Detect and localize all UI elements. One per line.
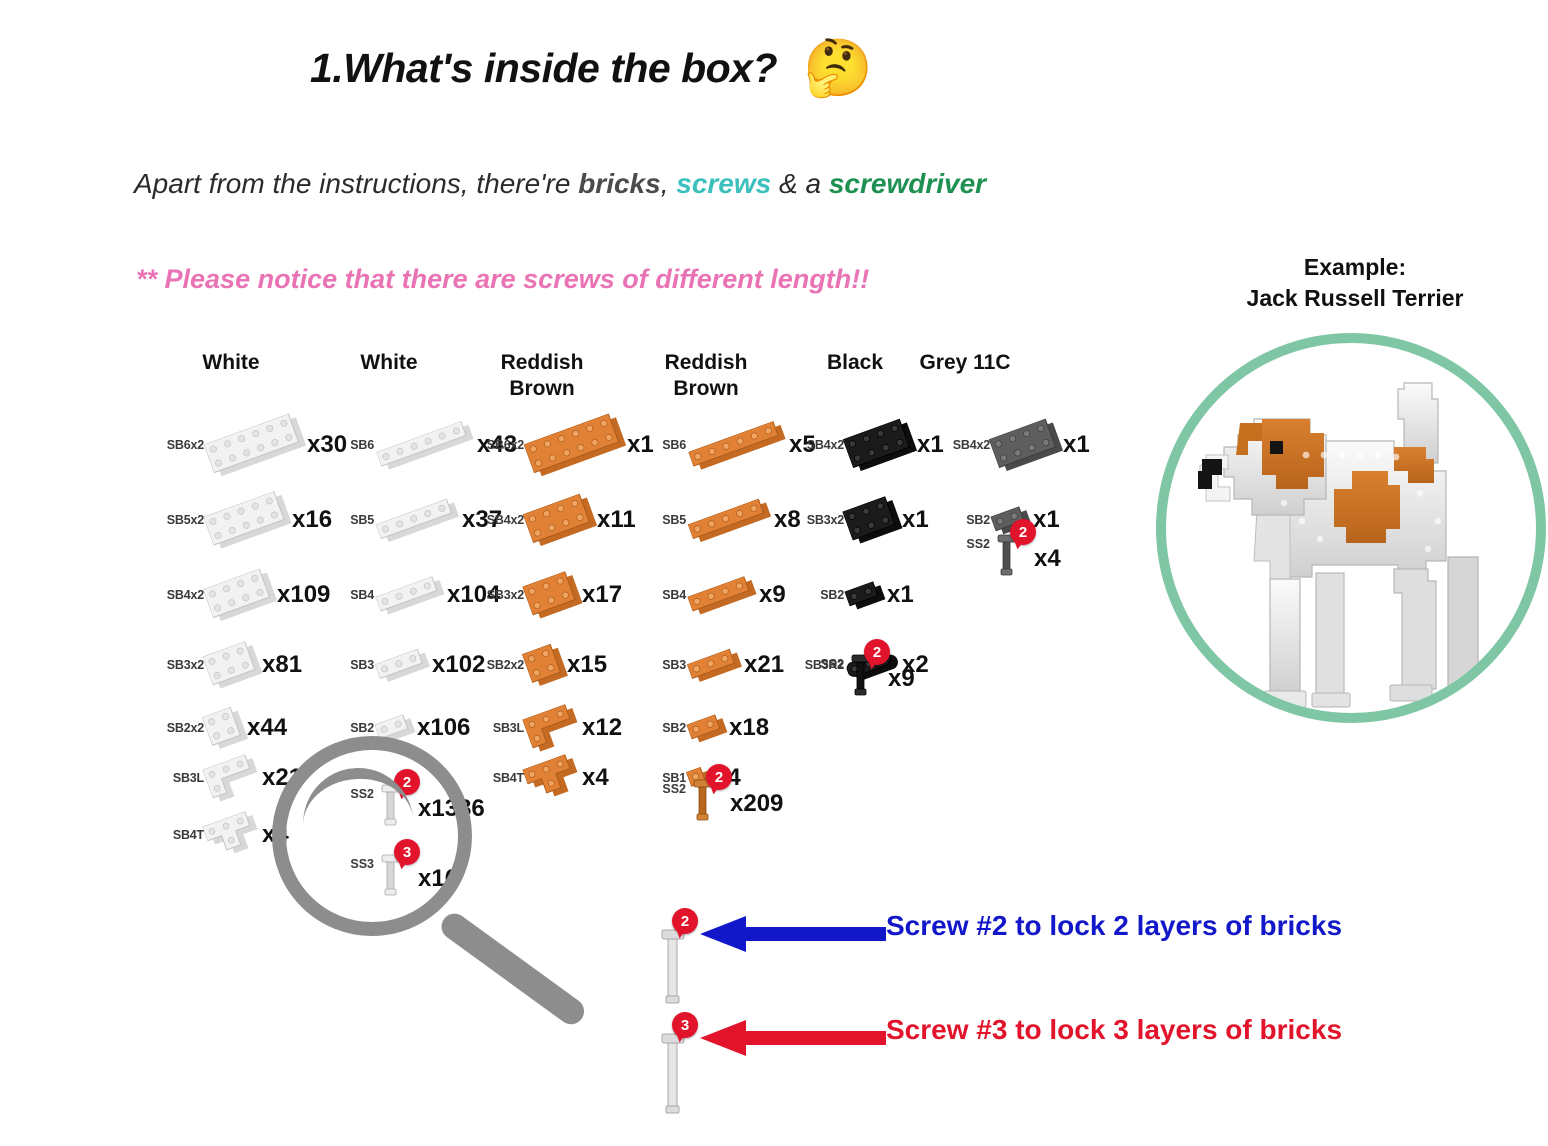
part-code: SB6 — [640, 438, 689, 452]
example-caption-line1: Example: — [1180, 252, 1530, 283]
legend-arrow-blue — [700, 914, 886, 954]
brick-icon — [843, 417, 917, 473]
screw-icon: 2 — [847, 645, 887, 701]
part-row: SB4x2 x1 — [798, 415, 944, 475]
keyword-screwdriver: screwdriver — [829, 168, 986, 199]
brick-icon — [842, 494, 902, 545]
column-header-0-line1: White — [156, 350, 306, 376]
screw-code: SS2 — [798, 657, 847, 671]
part-code: SB2x2 — [158, 721, 207, 735]
magnifier-handle — [436, 908, 589, 1029]
part-row: SB4x2 x1 — [944, 415, 1090, 475]
part-row: SB3x2 x17 — [478, 565, 622, 625]
part-quantity: x21 — [262, 764, 302, 792]
part-row: SB3x2 x1 — [798, 490, 929, 550]
keyword-bricks: bricks — [578, 168, 661, 199]
screw-row: SS2 2x209 — [640, 770, 783, 826]
legend-badge-3: 3 — [672, 1012, 698, 1038]
part-quantity: x17 — [582, 581, 622, 609]
brick-icon — [374, 712, 415, 744]
page-header: 1.What's inside the box? 🤔 — [310, 40, 873, 96]
brick-icon — [375, 574, 444, 616]
column-header-3-line2: Brown — [631, 376, 781, 402]
screw-length-notice: ** Please notice that there are screws o… — [136, 264, 869, 295]
part-quantity: x18 — [729, 714, 769, 742]
subtitle-comma: , — [661, 168, 677, 199]
screw-quantity: x16 — [418, 865, 458, 893]
screw-row: SS2 2x1386 — [328, 775, 485, 831]
screw-code: SS2 — [944, 537, 993, 551]
column-header-5: Grey 11C — [890, 350, 1040, 376]
brick-icon — [375, 646, 430, 683]
column-header-2: Reddish Brown — [467, 350, 617, 403]
screw-row: SS3 3x16 — [328, 845, 458, 901]
part-code: SB3x2 — [158, 658, 207, 672]
part-quantity: x11 — [597, 506, 636, 534]
brick-icon — [524, 412, 627, 479]
brick-icon — [688, 419, 785, 472]
screw-row: SS2 2x4 — [944, 525, 1061, 581]
part-code: SB3L — [158, 771, 207, 785]
part-row: SB2 x1 — [798, 565, 914, 625]
part-quantity: x21 — [744, 651, 784, 679]
part-code: SB3 — [328, 658, 377, 672]
brick-icon — [523, 492, 597, 548]
legend-arrow-red — [700, 1018, 886, 1058]
brick-icon — [376, 496, 459, 543]
screw-row: SS2 2x9 — [798, 645, 915, 701]
screw-quantity: x9 — [888, 665, 915, 693]
subtitle-prefix: Apart from the instructions, there're — [134, 168, 578, 199]
part-code: SB2 — [798, 588, 847, 602]
keyword-screws: screws — [676, 168, 771, 199]
screw-icon: 2 — [377, 775, 417, 831]
screw-code: SS2 — [640, 782, 689, 796]
screw-icon: 3 — [377, 845, 417, 901]
part-code: SB2 — [328, 721, 377, 735]
brick-icon — [522, 569, 582, 620]
part-row: SB6 x5 — [640, 415, 816, 475]
part-quantity: x4 — [262, 821, 289, 849]
screw-layer-badge: 3 — [394, 839, 420, 865]
part-quantity: x44 — [247, 714, 287, 742]
part-code: SB6x2 — [158, 438, 207, 452]
brick-icon — [522, 702, 582, 753]
part-row: SB3x2 x81 — [158, 635, 302, 695]
brick-icon — [522, 752, 582, 803]
brick-icon — [202, 809, 262, 860]
column-header-5-line1: Grey 11C — [890, 350, 1040, 376]
screw-code: SS3 — [328, 857, 377, 871]
part-row: SB2 x106 — [328, 698, 470, 758]
example-caption-line2: Jack Russell Terrier — [1180, 283, 1530, 314]
part-quantity: x8 — [774, 506, 801, 534]
screw-layer-badge: 2 — [1010, 519, 1036, 545]
example-caption: Example: Jack Russell Terrier — [1180, 252, 1530, 314]
part-code: SB4 — [640, 588, 689, 602]
part-row: SB5 x8 — [640, 490, 801, 550]
brick-icon — [376, 419, 473, 472]
subtitle-middle: & a — [771, 168, 829, 199]
column-header-0: White — [156, 350, 306, 376]
part-row: SB3L x21 — [158, 748, 302, 808]
part-code: SB2 — [640, 721, 689, 735]
legend-text-screw3: Screw #3 to lock 3 layers of bricks — [886, 1014, 1342, 1046]
column-header-1-line1: White — [314, 350, 464, 376]
brick-icon — [203, 489, 291, 551]
part-code: SB5 — [328, 513, 377, 527]
legend-badge-2: 2 — [672, 908, 698, 934]
part-code: SB2x2 — [478, 658, 527, 672]
part-row: SB4 x104 — [328, 565, 500, 625]
part-quantity: x4 — [582, 764, 609, 792]
brick-icon — [844, 579, 885, 611]
part-quantity: x106 — [417, 714, 470, 742]
part-row: SB4x2 x109 — [158, 565, 330, 625]
part-quantity: x12 — [582, 714, 622, 742]
screw-quantity: x4 — [1034, 545, 1061, 573]
part-row: SB4 x9 — [640, 565, 786, 625]
part-code: SB4x2 — [158, 588, 207, 602]
part-row: SB3 x21 — [640, 635, 784, 695]
screw-layer-badge: 2 — [706, 764, 732, 790]
part-quantity: x15 — [567, 651, 607, 679]
part-row: SB4x2 x11 — [478, 490, 636, 550]
column-header-2-line1: Reddish — [467, 350, 617, 376]
part-code: SB4T — [158, 828, 207, 842]
legend-screw-3-figure: 3 — [650, 1012, 694, 1122]
brick-icon — [202, 639, 262, 690]
thinking-face-emoji: 🤔 — [803, 40, 873, 96]
part-code: SB5x2 — [158, 513, 207, 527]
legend-row-screw2: 2 Screw #2 to lock 2 layers of bricks — [650, 908, 1342, 1018]
jack-russell-terrier-image — [1166, 343, 1536, 713]
part-quantity: x1 — [902, 506, 929, 534]
part-code: SB4 — [328, 588, 377, 602]
brick-icon — [202, 705, 248, 751]
screw-layer-badge: 2 — [394, 769, 420, 795]
screw-icon: 2 — [993, 525, 1033, 581]
brick-icon — [688, 496, 771, 543]
part-row: SB6x2 x1 — [478, 415, 654, 475]
column-header-3-line1: Reddish — [631, 350, 781, 376]
part-code: SB6x2 — [478, 438, 527, 452]
page-title: 1.What's inside the box? — [310, 45, 777, 92]
brick-icon — [203, 567, 277, 623]
part-code: SB6 — [328, 438, 377, 452]
part-row: SB6x2 x30 — [158, 415, 347, 475]
brick-icon — [204, 412, 307, 479]
part-row: SB4T x4 — [478, 748, 609, 808]
part-row: SB5 x37 — [328, 490, 502, 550]
part-quantity: x1 — [887, 581, 914, 609]
legend-text-screw2: Screw #2 to lock 2 layers of bricks — [886, 910, 1342, 942]
column-header-2-line2: Brown — [467, 376, 617, 402]
part-row: SB4T x4 — [158, 805, 289, 865]
part-quantity: x81 — [262, 651, 302, 679]
screw-code: SS2 — [328, 787, 377, 801]
part-code: SB3 — [640, 658, 689, 672]
screw-quantity: x209 — [730, 790, 783, 818]
part-code: SB3x2 — [798, 513, 847, 527]
part-quantity: x1 — [917, 431, 944, 459]
part-code: SB3L — [478, 721, 527, 735]
part-quantity: x109 — [277, 581, 330, 609]
subtitle: Apart from the instructions, there're br… — [134, 168, 986, 200]
column-header-1: White — [314, 350, 464, 376]
part-row: SB3 x102 — [328, 635, 485, 695]
part-row: SB2x2 x15 — [478, 635, 607, 695]
screw-icon: 2 — [689, 770, 729, 826]
part-code: SB5 — [640, 513, 689, 527]
brick-icon — [687, 574, 756, 616]
example-image-frame — [1156, 333, 1546, 723]
column-header-3: Reddish Brown — [631, 350, 781, 403]
legend-screw-2-figure: 2 — [650, 908, 694, 1018]
brick-icon — [686, 712, 727, 744]
part-row: SB5x2 x16 — [158, 490, 332, 550]
part-quantity: x9 — [759, 581, 786, 609]
part-code: SB4x2 — [944, 438, 993, 452]
part-quantity: x1 — [1063, 431, 1090, 459]
brick-icon — [202, 752, 262, 803]
brick-icon — [522, 642, 568, 688]
screw-quantity: x1386 — [418, 795, 485, 823]
part-quantity: x16 — [292, 506, 332, 534]
part-code: SB4x2 — [478, 513, 527, 527]
part-code: SB4T — [478, 771, 527, 785]
part-code: SB3x2 — [478, 588, 527, 602]
legend-row-screw3: 3 Screw #3 to lock 3 layers of bricks — [650, 1012, 1342, 1122]
screw-layer-badge: 2 — [864, 639, 890, 665]
instruction-page: 1.What's inside the box? 🤔 Apart from th… — [0, 0, 1548, 1146]
brick-icon — [687, 646, 742, 683]
brick-icon — [989, 417, 1063, 473]
part-code: SB4x2 — [798, 438, 847, 452]
